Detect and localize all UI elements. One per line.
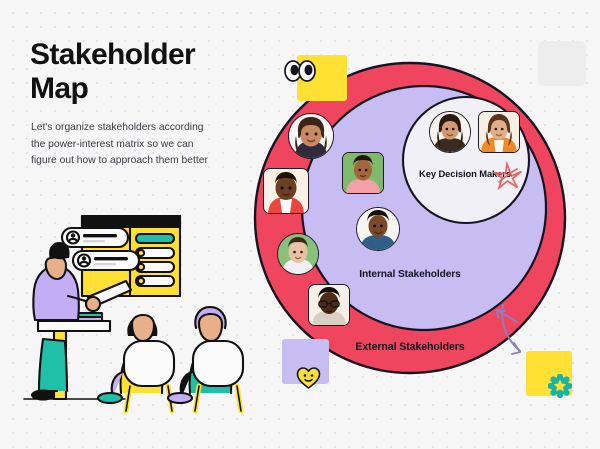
avatar-internal-2[interactable] <box>356 207 400 251</box>
avatar-external-1[interactable] <box>288 113 334 159</box>
avatar-external-3[interactable] <box>277 233 319 275</box>
team-presentation-illustration <box>8 196 256 416</box>
slide-canvas: Stakeholder Map Let's organize stakehold… <box>0 0 600 449</box>
page-title: Stakeholder Map <box>30 38 250 105</box>
star-doodle-icon <box>493 161 523 191</box>
avatar-key-2[interactable] <box>478 111 520 153</box>
inward-arrow-icon <box>494 308 518 324</box>
avatar-internal-1[interactable] <box>342 152 384 194</box>
avatar-external-2[interactable] <box>263 168 309 214</box>
avatar-external-4[interactable] <box>308 284 350 326</box>
googly-eyes-icon <box>283 60 317 82</box>
avatar-key-1[interactable] <box>429 111 471 153</box>
page-subtitle: Let's organize stakeholders according th… <box>31 120 209 170</box>
smiley-heart-icon <box>296 366 321 389</box>
flower-badge-icon <box>548 374 572 398</box>
